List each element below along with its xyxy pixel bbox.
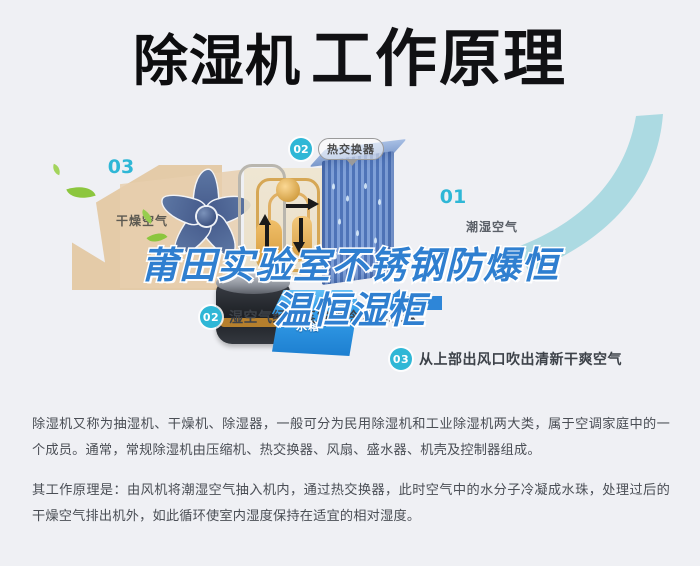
infographic-page: 除湿机工作原理 潮湿空气 01 干燥空气 03 <box>0 0 700 566</box>
page-title: 除湿机工作原理 <box>0 28 700 90</box>
flow-arrow-down <box>293 242 305 253</box>
flow-arrow-right-stem <box>286 204 308 208</box>
badge-03-top: 03 <box>110 156 132 178</box>
compressor-top <box>216 272 290 294</box>
coil-drum <box>256 220 282 266</box>
leaf-icon <box>51 164 63 176</box>
humid-air-arrow <box>408 112 678 312</box>
bullet-line-02: 02 湿空气经过蒸发器冷凝成水珠 <box>200 306 418 328</box>
bullet-badge-03: 03 <box>390 348 412 370</box>
dehumidifier-diagram: 潮湿空气 01 干燥空气 03 <box>0 120 700 395</box>
coil-valve <box>276 178 300 202</box>
badge-02: 02 <box>290 138 312 160</box>
badge-01: 01 <box>442 186 464 208</box>
condensation-droplets <box>326 168 390 281</box>
body-text: 除湿机又称为抽湿机、干燥机、除湿器，一般可分为民用除湿机和工业除湿机两大类，属于… <box>32 412 670 530</box>
flow-arrow-up-stem <box>265 224 269 250</box>
bullet-text-03: 从上部出风口吹出清新干爽空气 <box>419 349 622 369</box>
page-title-part2: 工作原理 <box>311 22 567 95</box>
body-paragraph-1: 除湿机又称为抽湿机、干燥机、除湿器，一般可分为民用除湿机和工业除湿机两大类，属于… <box>32 412 670 464</box>
flow-arrow-up <box>259 214 271 225</box>
bullet-text-02: 湿空气经过蒸发器冷凝成水珠 <box>229 307 418 327</box>
leaf-icon <box>66 181 95 203</box>
flow-arrow-right <box>308 198 319 210</box>
flow-arrow-down-stem <box>299 218 303 244</box>
humid-air-label: 潮湿空气 <box>466 218 518 235</box>
bullet-line-03: 03 从上部出风口吹出清新干爽空气 <box>390 348 622 370</box>
heat-exchanger-callout: 热交换器 <box>318 138 384 160</box>
body-paragraph-2: 其工作原理是：由风机将潮湿空气抽入机内，通过热交换器，此时空气中的水分子冷凝成水… <box>32 478 670 530</box>
bullet-badge-02: 02 <box>200 306 222 328</box>
page-title-part1: 除湿机 <box>133 29 301 93</box>
